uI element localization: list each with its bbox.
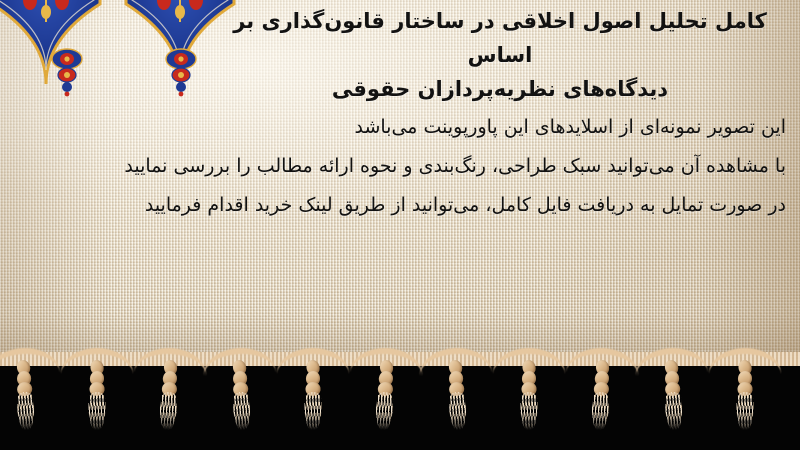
fringe-tassel <box>226 355 256 436</box>
fringe-brush <box>591 392 610 431</box>
slide-title-line-1: کامل تحلیل اصول اخلاقی در ساختار قانون‌گ… <box>212 4 788 72</box>
fringe-tassel <box>84 356 110 436</box>
fringe-tassel <box>658 355 688 436</box>
carpet-fringe-tassels <box>0 356 800 450</box>
body-line-3: در صورت تمایل به دریافت فایل کامل، می‌تو… <box>14 186 786 225</box>
fringe-brush <box>16 392 35 431</box>
fringe-tassel <box>300 356 326 436</box>
fringe-brush <box>448 392 467 431</box>
slide-title-line-2: دیدگاه‌های نظریه‌پردازان حقوقی <box>212 72 788 106</box>
fringe-tassel <box>586 355 616 436</box>
fringe-tassel <box>154 355 184 436</box>
fringe-tassel <box>10 355 40 436</box>
fringe-brush <box>375 392 394 431</box>
fringe-brush <box>232 392 251 431</box>
fringe-brush <box>305 392 322 430</box>
fringe-brush <box>737 392 754 430</box>
fringe-tassel <box>370 355 400 436</box>
fringe-brush <box>159 392 178 431</box>
fringe-brush <box>89 392 106 430</box>
slide-canvas: کامل تحلیل اصول اخلاقی در ساختار قانون‌گ… <box>0 0 800 450</box>
slide-title: کامل تحلیل اصول اخلاقی در ساختار قانون‌گ… <box>212 4 788 106</box>
body-line-2: با مشاهده آن می‌توانید سبک طراحی، رنگ‌بن… <box>14 147 786 186</box>
fringe-tassel <box>516 356 542 436</box>
fringe-tassel <box>442 355 472 436</box>
persian-pendant-ornament-left <box>47 48 87 98</box>
fringe-brush <box>664 392 683 431</box>
body-line-1: این تصویر نمونه‌ای از اسلایدهای این پاور… <box>14 108 786 147</box>
fringe-brush <box>521 392 538 430</box>
persian-pendant-ornament-right <box>161 48 201 98</box>
fringe-tassel <box>732 356 758 436</box>
slide-body-text: این تصویر نمونه‌ای از اسلایدهای این پاور… <box>14 108 786 225</box>
